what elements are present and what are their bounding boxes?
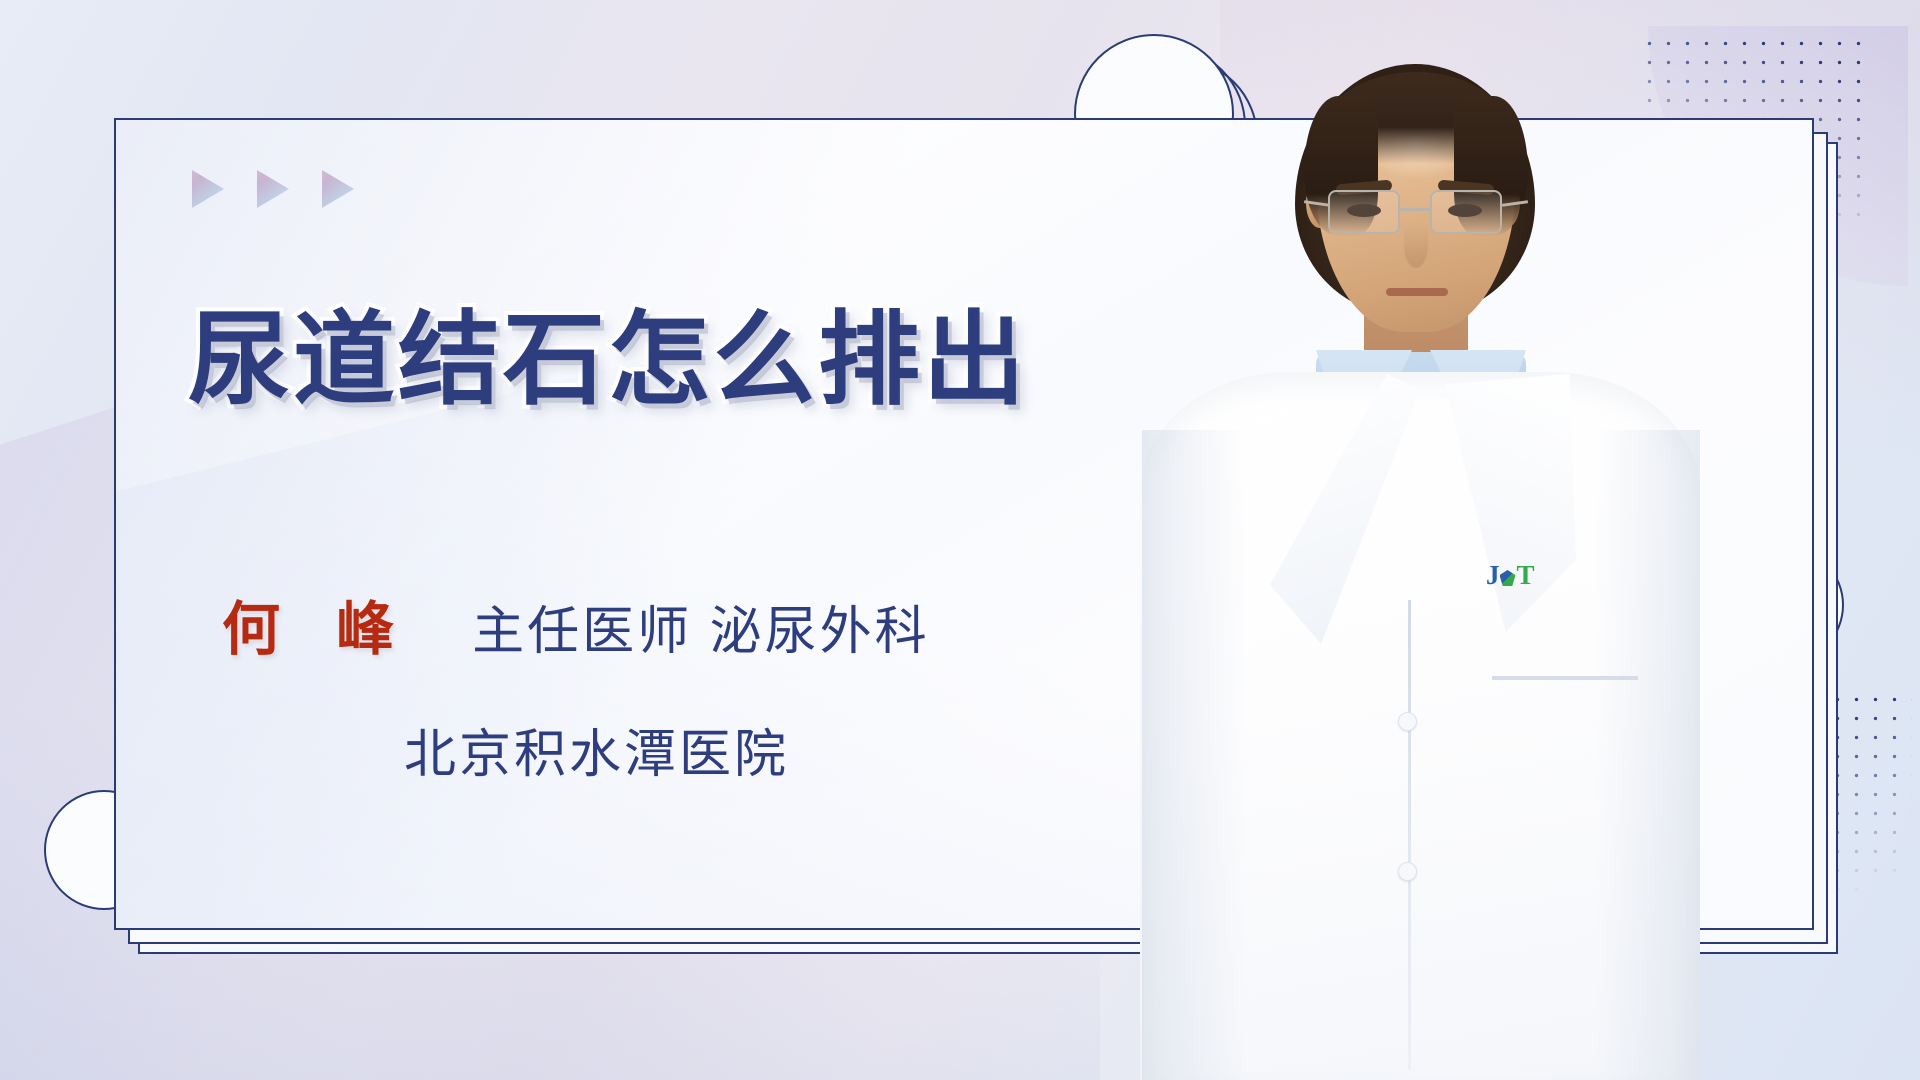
hospital-logo-icon: JT — [1486, 560, 1534, 591]
lab-coat-pocket — [1492, 676, 1638, 680]
glasses-lens-left-icon — [1328, 190, 1400, 234]
hospital-logo-right-letter: T — [1517, 560, 1534, 590]
portrait-mouth — [1386, 288, 1448, 296]
play-triangle-icon-3 — [322, 170, 354, 208]
portrait-nose — [1404, 224, 1428, 268]
doctor-name: 何 峰 — [222, 582, 414, 666]
lab-coat-shading-left — [1142, 430, 1292, 1080]
glasses-lens-right-icon — [1430, 190, 1502, 234]
hospital-logo-mark — [1500, 570, 1516, 586]
glasses-bridge-icon — [1400, 208, 1430, 211]
play-triangle-icon-2 — [257, 170, 289, 208]
lab-coat-button-1 — [1398, 712, 1417, 731]
page-title: 尿道结石怎么排出 — [188, 278, 1028, 425]
presenter-primary-line: 何 峰 主任医师 泌尿外科 — [222, 582, 930, 666]
play-triangle-icon-1 — [192, 170, 224, 208]
arrow-decoration-row — [192, 170, 354, 208]
hospital-logo-left-letter: J — [1486, 560, 1499, 590]
doctor-portrait: JT — [1120, 0, 1800, 1080]
lab-coat-seam — [1408, 600, 1411, 1070]
title-card-stage: 尿道结石怎么排出 何 峰 主任医师 泌尿外科 北京积水潭医院 — [0, 0, 1920, 1080]
doctor-credentials: 主任医师 泌尿外科 — [472, 589, 929, 664]
doctor-hospital: 北京积水潭医院 — [404, 712, 789, 787]
lab-coat-button-2 — [1398, 862, 1417, 881]
